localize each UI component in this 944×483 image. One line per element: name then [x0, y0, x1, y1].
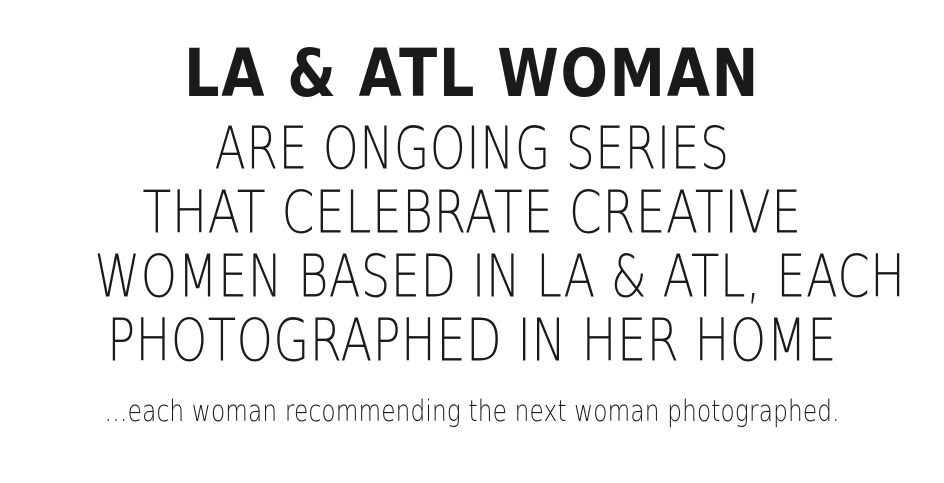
body-line-1: ARE ONGOING SERIES: [99, 115, 845, 180]
body-line-3: WOMEN BASED IN LA & ATL, EACH: [94, 243, 849, 308]
statement-graphic: LA & ATL WOMAN ARE ONGOING SERIES THAT C…: [0, 0, 944, 483]
headline-title: LA & ATL WOMAN: [73, 38, 871, 110]
body-line-4: PHOTOGRAPHED IN HER HOME: [94, 307, 849, 372]
body-line-2: THAT CELEBRATE CREATIVE: [87, 179, 856, 244]
footnote-text: …each woman recommending the next woman …: [94, 394, 849, 428]
